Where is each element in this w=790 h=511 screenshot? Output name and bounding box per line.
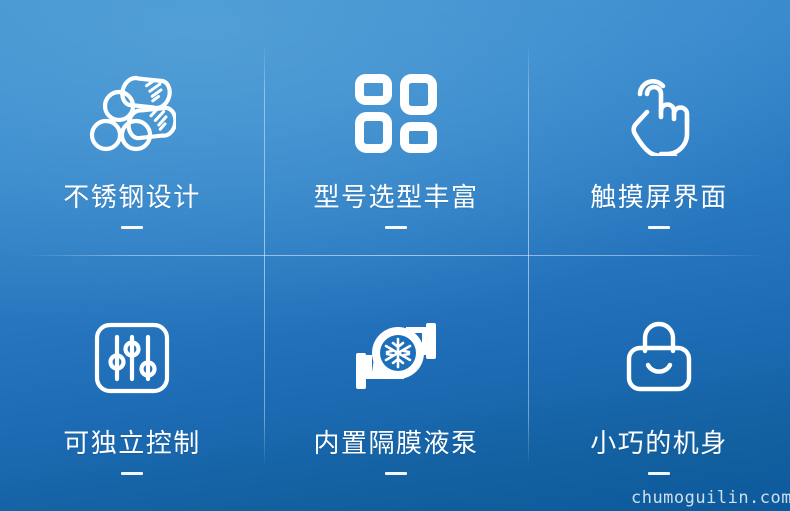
sliders-panel-icon xyxy=(93,306,171,410)
pump-snowflake-icon xyxy=(348,306,444,410)
feature-cell-independent-control[interactable]: 可独立控制 xyxy=(0,256,264,511)
label-underline-dash xyxy=(121,226,143,229)
feature-label: 内置隔膜液泵 xyxy=(313,430,478,456)
label-underline-dash xyxy=(648,472,670,475)
touch-hand-icon xyxy=(620,62,698,166)
feature-label: 可独立控制 xyxy=(63,430,201,456)
feature-label: 型号选型丰富 xyxy=(313,184,478,210)
stacked-pipes-icon xyxy=(88,62,176,166)
feature-cell-touchscreen[interactable]: 触摸屏界面 xyxy=(528,0,790,256)
feature-cell-stainless-steel[interactable]: 不锈钢设计 xyxy=(0,0,264,256)
feature-label: 小巧的机身 xyxy=(590,430,728,456)
feature-label: 不锈钢设计 xyxy=(63,184,201,210)
smiling-bag-icon xyxy=(621,306,697,410)
feature-cell-diaphragm-pump[interactable]: 内置隔膜液泵 xyxy=(264,256,528,511)
feature-banner: 不锈钢设计 型号选型丰富 xyxy=(0,0,790,511)
grid-blocks-icon xyxy=(353,62,439,166)
feature-grid: 不锈钢设计 型号选型丰富 xyxy=(0,0,790,511)
feature-cell-model-variety[interactable]: 型号选型丰富 xyxy=(264,0,528,256)
label-underline-dash xyxy=(648,226,670,229)
feature-cell-compact-body[interactable]: 小巧的机身 xyxy=(528,256,790,511)
label-underline-dash xyxy=(385,226,407,229)
label-underline-dash xyxy=(385,472,407,475)
site-watermark: chumoguilin.com xyxy=(631,488,790,508)
label-underline-dash xyxy=(121,472,143,475)
feature-label: 触摸屏界面 xyxy=(590,184,728,210)
